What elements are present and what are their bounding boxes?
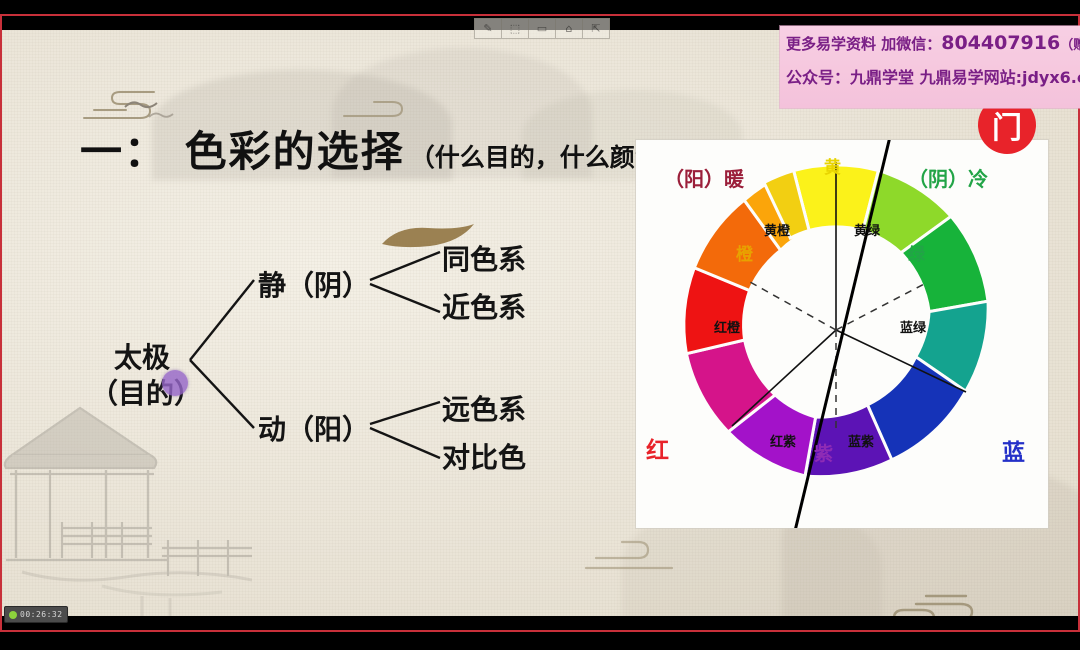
pointer-cursor-dot [162, 370, 188, 396]
promo-wechat-prefix: 更多易学资料 加微信： [786, 35, 941, 53]
wheel-header-warm: （阳）暖 [664, 167, 745, 191]
wheel-label-red: 红 [646, 437, 669, 464]
annotate-button[interactable]: ✎ [474, 18, 502, 39]
promo-line-wechat: 更多易学资料 加微信：804407916（赠送资料） [786, 34, 1080, 53]
seal-character: 门 [992, 103, 1022, 147]
wheel-label-green: 绿 [908, 244, 926, 265]
expand-button[interactable]: ⇱ [583, 18, 610, 39]
wheel-label-yellow: 黄 [824, 157, 841, 178]
select-region-icon: ⬚ [510, 22, 520, 35]
tree-node-dong-yang: 动（阳） [258, 408, 370, 448]
tree-node-root-line1: 太极 [114, 336, 170, 376]
wheel-label-red-orange: 红橙 [714, 320, 741, 336]
wheel-label-purple: 紫 [814, 443, 833, 465]
recording-timer-badge: 00:26:32 [4, 606, 68, 623]
expand-icon: ⇱ [591, 22, 600, 35]
tree-leaf-contrast-color: 对比色 [442, 436, 526, 476]
letterbox-top [0, 0, 1080, 14]
wheel-header-cool: （阴）冷 [908, 167, 988, 191]
tree-node-jing-yin: 静（阴） [258, 264, 370, 304]
video-toolbar[interactable]: ✎ ⬚ ▭ ⌂ ⇱ [474, 18, 610, 38]
tree-leaf-far-color-family: 远色系 [442, 388, 526, 428]
promo-site-prefix: 公众号：九鼎学堂 九鼎易学网站: [786, 68, 1022, 87]
timer-text: 00:26:32 [20, 610, 63, 619]
promo-wechat-number: 804407916 [941, 32, 1060, 54]
wheel-label-yellow-orange: 黄橙 [764, 223, 791, 239]
select-region-button[interactable]: ⬚ [502, 18, 529, 39]
tree-leaf-same-color-family: 同色系 [442, 238, 526, 278]
wheel-label-orange: 橙 [736, 244, 754, 265]
home-icon: ⌂ [566, 22, 573, 35]
window-button[interactable]: ▭ [529, 18, 556, 39]
promo-wechat-suffix: （赠送资料） [1060, 38, 1080, 53]
letterbox-bottom [0, 632, 1080, 650]
home-button[interactable]: ⌂ [556, 18, 583, 39]
window-icon: ▭ [537, 22, 547, 35]
wheel-label-yellow-green: 黄绿 [854, 223, 881, 239]
color-wheel-image: （阳）暖 （阴）冷 黄 橙 红 紫 蓝 绿 黄橙 黄绿 红橙 蓝绿 红紫 蓝紫 [636, 140, 1048, 528]
promo-overlay-banner: 更多易学资料 加微信：804407916（赠送资料） 公众号：九鼎学堂 九鼎易学… [780, 26, 1080, 108]
promo-site-url: jdyx6.com [1022, 68, 1080, 87]
slide-title-main: 一： 色彩的选择 [80, 127, 405, 176]
color-wheel-svg: （阳）暖 （阴）冷 黄 橙 红 紫 蓝 绿 黄橙 黄绿 红橙 蓝绿 红紫 蓝紫 [636, 140, 1048, 528]
wheel-label-blue-green: 蓝绿 [900, 320, 927, 336]
promo-line-site: 公众号：九鼎学堂 九鼎易学网站:jdyx6.com [786, 70, 1080, 86]
wheel-label-red-purple: 红紫 [770, 434, 796, 450]
recording-indicator-icon [9, 611, 17, 619]
wheel-label-blue: 蓝 [1002, 439, 1025, 466]
cloud-motif-decor [860, 586, 1020, 616]
annotate-icon: ✎ [483, 22, 492, 35]
tree-leaf-near-color-family: 近色系 [442, 286, 526, 326]
screen-share-stage: 一： 色彩的选择 （什么目的，什么颜色，什么系） 太极 （目的） 静（阴） [0, 0, 1080, 650]
wheel-label-blue-purple: 蓝紫 [848, 434, 874, 450]
